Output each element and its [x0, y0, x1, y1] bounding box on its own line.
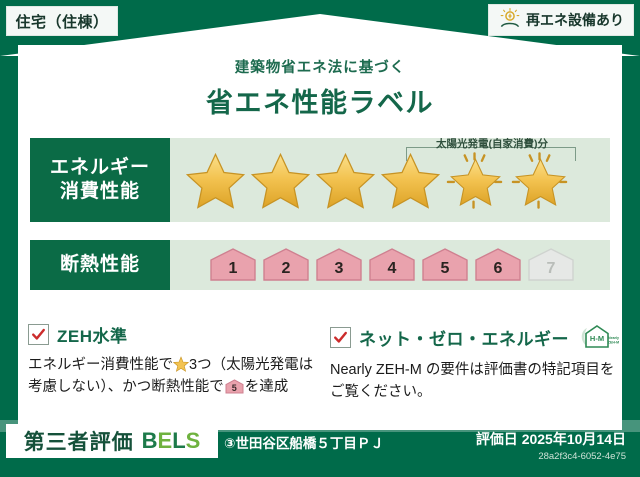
net-zero-energy-header: ネット・ゼロ・エネルギー H-M Nearly ZEH-M — [330, 322, 625, 352]
bels-badge: 第三者評価 BELS — [6, 424, 218, 458]
bels-letter-b: B — [142, 428, 158, 453]
energy-stars-area: 太陽光発電(自家消費)分 — [170, 138, 610, 222]
net-zero-energy-title: ネット・ゼロ・エネルギー — [359, 325, 569, 350]
house-type-label: 住宅（住棟） — [15, 11, 108, 32]
insulation-level-number: 5 — [441, 260, 450, 283]
title-main: 省エネ性能ラベル — [0, 81, 640, 120]
insulation-level-step: 5 — [420, 247, 470, 283]
nearly-zeh-m-logo: H-M Nearly ZEH-M — [577, 322, 619, 352]
bels-logo: BELS — [142, 428, 201, 454]
insulation-level-step: 6 — [473, 247, 523, 283]
renewable-equipment-tag: 再エネ設備あり — [488, 4, 634, 36]
energy-performance-row: エネルギー 消費性能 — [30, 138, 610, 222]
insulation-level-step: 1 — [208, 247, 258, 283]
insulation-level-step: 2 — [261, 247, 311, 283]
evaluation-id: 28a2f3c4-6052-4e75 — [476, 451, 626, 462]
insulation-performance-label: 断熱性能 — [30, 240, 170, 290]
energy-label-line2: 消費性能 — [60, 180, 140, 204]
insulation-level-number: 6 — [494, 260, 503, 283]
star-icon — [173, 356, 189, 372]
insulation-badge-number: 5 — [225, 379, 244, 394]
zeh-standard-block: ZEH水準 エネルギー消費性能で3つ（太陽光発電は考慮しない）、かつ断熱性能で5… — [28, 322, 318, 399]
net-zero-energy-body: Nearly ZEH-M の要件は評価書の特記項目をご覧ください。 — [330, 359, 625, 404]
bels-letter-s: S — [186, 428, 201, 453]
zeh-body-part1: エネルギー消費性能で — [28, 357, 173, 373]
solar-caption: 太陽光発電(自家消費)分 — [402, 136, 582, 151]
insulation-level-number: 4 — [388, 260, 397, 283]
insulation-level-number: 1 — [229, 260, 238, 283]
insulation-levels-area: 1 2 3 4 5 6 7 — [170, 240, 610, 290]
star-icon — [184, 150, 247, 210]
zeh-standard-body: エネルギー消費性能で3つ（太陽光発電は考慮しない）、かつ断熱性能で5を達成 — [28, 354, 318, 399]
zeh-standard-title: ZEH水準 — [57, 322, 128, 347]
property-address: ③世田谷区船橋５丁目ＰＪ — [224, 432, 384, 452]
zeh-body-part3: を達成 — [245, 379, 289, 395]
energy-label-root: 住宅（住棟） 再エネ設備あり 建築物省エネ法に基づく 省エネ性能ラベル — [0, 0, 640, 477]
bels-letter-l: L — [172, 428, 185, 453]
energy-performance-label: エネルギー 消費性能 — [30, 138, 170, 222]
insulation-performance-row: 断熱性能 1 2 3 4 5 — [30, 240, 610, 290]
insulation-level-number: 2 — [282, 260, 291, 283]
insulation-level-number: 7 — [547, 260, 556, 283]
renewable-equipment-label: 再エネ設備あり — [526, 10, 624, 30]
check-icon — [28, 324, 49, 345]
house-type-tag: 住宅（住棟） — [6, 6, 118, 36]
evaluation-info: 評価日 2025年10月14日 28a2f3c4-6052-4e75 — [476, 429, 626, 462]
net-zero-energy-block: ネット・ゼロ・エネルギー H-M Nearly ZEH-M Nearly ZEH… — [330, 322, 625, 404]
title-block: 建築物省エネ法に基づく 省エネ性能ラベル — [0, 56, 640, 120]
star-icon — [314, 150, 377, 210]
svg-text:Nearly: Nearly — [608, 336, 619, 340]
insulation-level-number: 3 — [335, 260, 344, 283]
insulation-label-text: 断熱性能 — [60, 253, 140, 277]
bels-japanese-label: 第三者評価 — [24, 426, 134, 456]
check-icon — [330, 327, 351, 348]
insulation-level-step: 3 — [314, 247, 364, 283]
svg-text:H-M: H-M — [590, 334, 604, 343]
insulation-level-step: 4 — [367, 247, 417, 283]
energy-label-line1: エネルギー — [50, 156, 150, 180]
star-icon — [249, 150, 312, 210]
insulation-level-badge: 5 — [225, 379, 244, 394]
svg-text:ZEH-M: ZEH-M — [608, 340, 619, 344]
bels-letter-e: E — [158, 428, 173, 453]
sun-icon — [498, 6, 522, 35]
insulation-level-step-inactive: 7 — [526, 247, 576, 283]
zeh-standard-header: ZEH水準 — [28, 322, 318, 347]
evaluation-date: 評価日 2025年10月14日 — [476, 429, 626, 449]
title-subtitle: 建築物省エネ法に基づく — [0, 56, 640, 77]
